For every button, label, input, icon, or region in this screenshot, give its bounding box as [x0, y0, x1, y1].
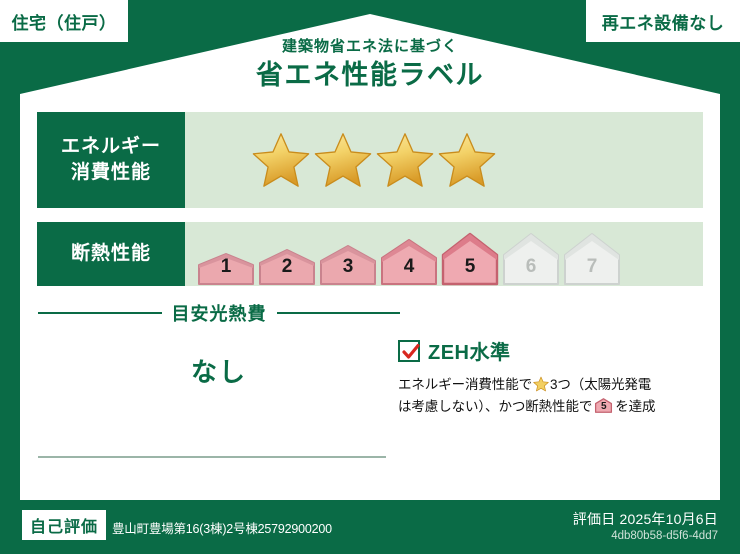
house-chip-icon	[502, 232, 560, 286]
zeh-description: エネルギー消費性能で 3つ（太陽光発電は考慮しない）、かつ断熱性能で 5 を達成	[398, 374, 698, 418]
insulation-level-3: 3	[319, 244, 377, 286]
utility-cost-heading: 目安光熱費	[38, 300, 400, 326]
insulation-level-4: 4	[380, 238, 438, 286]
zeh-standard-block: ZEH水準 エネルギー消費性能で 3つ（太陽光発電は考慮しない）、かつ断熱性能で…	[398, 336, 698, 418]
label-footer: 自己評価 豊山町豊場第16(3棟)2号棟25792900200 評価日 2025…	[0, 500, 740, 554]
star-icon	[313, 131, 373, 189]
house-chip-icon: 5	[594, 398, 613, 413]
energy-performance-label: 住宅（住戸） 再エネ設備なし 建築物省エネ法に基づく 省エネ性能ラベル エネルギ…	[0, 0, 740, 554]
house-chip-icon	[563, 232, 621, 286]
zeh-desc-part1: エネルギー消費性能で	[398, 377, 532, 392]
energy-performance-row: エネルギー 消費性能	[37, 112, 703, 208]
label-content: エネルギー 消費性能	[20, 94, 720, 500]
star-icon	[251, 131, 311, 189]
house-chip-icon	[441, 232, 499, 286]
zeh-heading-row: ZEH水準	[398, 336, 698, 365]
insulation-level-6: 6	[502, 232, 560, 286]
evaluation-id: 4db80b58-d5f6-4dd7	[611, 530, 718, 542]
insulation-level-2: 2	[258, 248, 316, 286]
star-icon	[437, 131, 497, 189]
energy-star-rating	[185, 112, 703, 208]
evaluation-date: 評価日 2025年10月6日	[573, 509, 718, 529]
heading-rule-left	[38, 312, 162, 314]
insulation-performance-row: 断熱性能 1 2	[37, 222, 703, 286]
energy-label-line1: エネルギー	[61, 136, 161, 157]
utility-cost-value: なし	[38, 352, 400, 389]
checkmark-icon	[398, 340, 420, 362]
insulation-level-1: 1	[197, 252, 255, 286]
zeh-title: ZEH水準	[428, 336, 511, 365]
energy-label-line2: 消費性能	[71, 162, 151, 183]
building-type-tag: 住宅（住戸）	[0, 0, 128, 42]
star-icon	[533, 376, 549, 392]
label-title-block: 建築物省エネ法に基づく 省エネ性能ラベル	[0, 38, 740, 93]
zeh-desc-part2: 3つ（太陽光発電	[550, 377, 651, 392]
house-chip-icon	[380, 238, 438, 286]
house-chip-icon	[258, 248, 316, 286]
insulation-level-7: 7	[563, 232, 621, 286]
star-icon	[375, 131, 435, 189]
zeh-desc-part4: を達成	[615, 399, 655, 414]
insulation-level-scale: 1 2 3	[185, 222, 703, 286]
utility-cost-divider	[38, 456, 386, 458]
renewable-equipment-tag: 再エネ設備なし	[586, 0, 740, 42]
insulation-performance-label-cell: 断熱性能	[37, 222, 185, 286]
insulation-level-5: 5	[441, 232, 499, 286]
house-chip-icon	[319, 244, 377, 286]
page-title: 省エネ性能ラベル	[0, 59, 740, 93]
house-chip-icon	[197, 252, 255, 286]
zeh-desc-part3: は考慮しない）、かつ断熱性能で	[398, 399, 592, 414]
self-evaluation-badge: 自己評価	[22, 510, 106, 540]
property-name: 豊山町豊場第16(3棟)2号棟25792900200	[112, 518, 332, 537]
energy-performance-label-cell: エネルギー 消費性能	[37, 112, 185, 208]
utility-cost-heading-text: 目安光熱費	[172, 300, 267, 326]
zeh-desc-chip-number: 5	[594, 399, 613, 415]
heading-rule-right	[277, 312, 401, 314]
